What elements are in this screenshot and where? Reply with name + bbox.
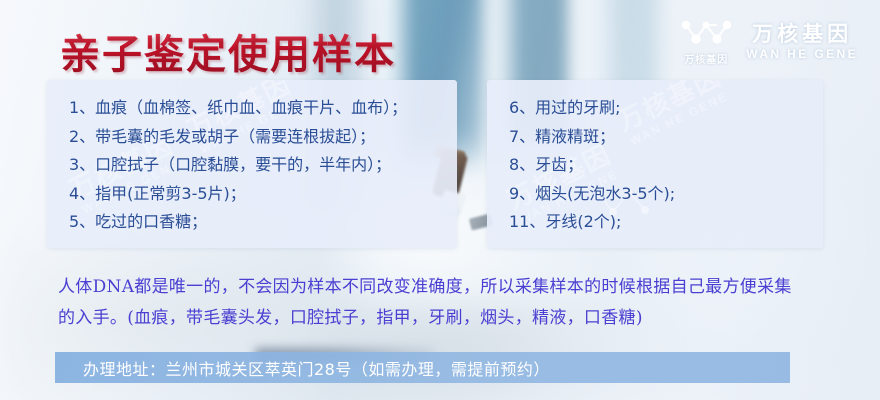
sample-card-left: 万核基因 WAN HE GENE 万核基因 WAN HE GENE 1、血痕（血… — [47, 80, 457, 248]
logo-mark-label: 万核基因 — [684, 51, 728, 66]
molecule-network-icon — [680, 18, 732, 48]
list-item: 7、精液精斑； — [509, 123, 823, 152]
list-item: 8、牙齿； — [509, 151, 823, 180]
address-bar: 办理地址：兰州市城关区萃英门28号（如需办理，需提前预约） — [55, 352, 790, 383]
logo-name-cn: 万核基因 — [752, 23, 852, 47]
list-item: 2、带毛囊的毛发或胡子（需要连根拔起）； — [69, 123, 457, 152]
sample-list-left: 1、血痕（血棉签、纸巾血、血痕干片、血布）； 2、带毛囊的毛发或胡子（需要连根拔… — [47, 80, 457, 237]
address-text: 办理地址：兰州市城关区萃英门28号（如需办理，需提前预约） — [55, 356, 550, 380]
logo-wordmark: 万核基因 WAN HE GENE — [746, 23, 858, 62]
brand-logo: 万核基因 万核基因 WAN HE GENE — [680, 18, 858, 66]
logo-name-en: WAN HE GENE — [746, 48, 858, 61]
note-paragraph: 人体DNA都是唯一的，不会因为样本不同改变准确度，所以采集样本的时候根据自己最方… — [58, 272, 848, 334]
list-item: 5、吃过的口香糖； — [69, 208, 457, 237]
note-line-2: 的入手。(血痕，带毛囊头发，口腔拭子，指甲，牙刷，烟头，精液，口香糖) — [58, 303, 848, 334]
list-item: 1、血痕（血棉签、纸巾血、血痕干片、血布）； — [69, 94, 457, 123]
list-item: 3、口腔拭子（口腔黏膜，要干的，半年内）； — [69, 151, 457, 180]
logo-mark: 万核基因 — [680, 18, 732, 66]
note-line-1: 人体DNA都是唯一的，不会因为样本不同改变准确度，所以采集样本的时候根据自己最方… — [58, 272, 848, 303]
page-title: 亲子鉴定使用样本 — [60, 22, 396, 80]
list-item: 6、用过的牙刷; — [509, 94, 823, 123]
poster-root: 亲子鉴定使用样本 — [0, 0, 880, 400]
sample-list-right: 6、用过的牙刷; 7、精液精斑； 8、牙齿； 9、烟头(无泡水3-5个); 11… — [487, 80, 823, 237]
sample-card-right: 万核基因 WAN HE GENE 万核基因 WAN HE GENE — [487, 80, 823, 248]
list-item: 11、牙线(2个); — [509, 208, 823, 237]
list-item: 4、指甲(正常剪3-5片)； — [69, 180, 457, 209]
list-item: 9、烟头(无泡水3-5个); — [509, 180, 823, 209]
